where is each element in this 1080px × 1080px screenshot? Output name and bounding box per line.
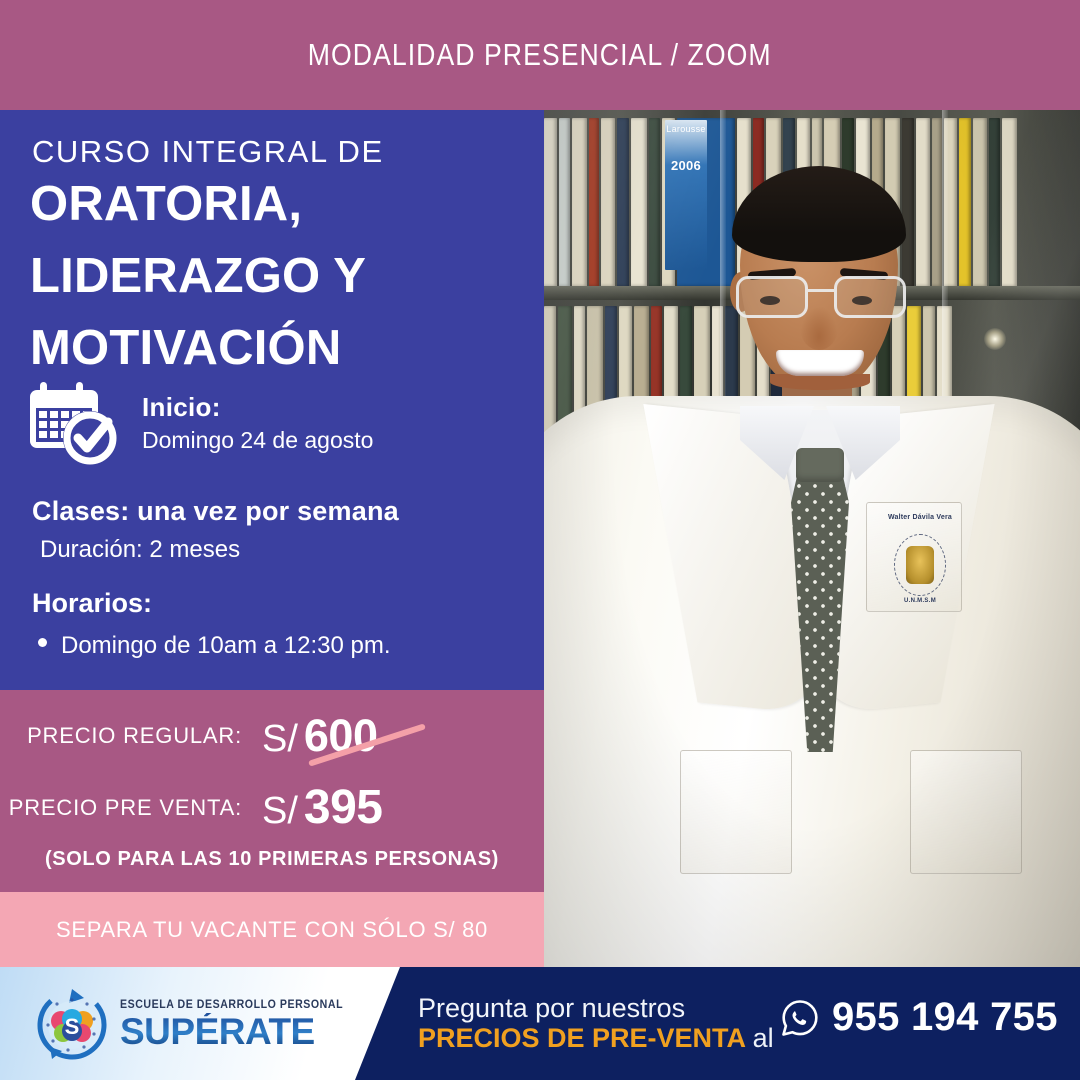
eyeglasses <box>732 276 912 320</box>
superate-circular-brain-logo-icon: S <box>36 989 108 1061</box>
brand-logo[interactable]: S ESCUELA DE DESARROLLO PERSONAL SUPÉRAT… <box>36 989 362 1061</box>
svg-text:S: S <box>65 1014 80 1039</box>
bullet-icon <box>38 638 47 647</box>
phone-number: 955 194 755 <box>832 995 1058 1040</box>
course-title: ORATORIA, LIDERAZGO Y MOTIVACIÓN <box>30 168 366 384</box>
pricing-panel: PRECIO REGULAR: S/ 600 PRECIO PRE VENTA:… <box>0 690 544 892</box>
start-value: Domingo 24 de agosto <box>142 427 373 454</box>
presale-price-row: PRECIO PRE VENTA: S/ 395 <box>0 780 544 835</box>
coat-badge-emblem <box>894 534 946 596</box>
cta-highlight: PRECIOS DE PRE-VENTA <box>418 1023 745 1053</box>
schedule-label: Horarios: <box>32 588 152 619</box>
modality-text: MODALIDAD PRESENCIAL / ZOOM <box>308 37 772 73</box>
footer: S ESCUELA DE DESARROLLO PERSONAL SUPÉRAT… <box>0 967 1080 1080</box>
schedule-item: Domingo de 10am a 12:30 pm. <box>38 632 391 660</box>
modality-band: MODALIDAD PRESENCIAL / ZOOM <box>0 0 1080 110</box>
schedule-item-text: Domingo de 10am a 12:30 pm. <box>61 632 391 660</box>
cta-suffix: al <box>753 1023 774 1053</box>
presale-amount: 395 <box>304 780 383 835</box>
flyer-canvas: MODALIDAD PRESENCIAL / ZOOM <box>0 0 1080 1080</box>
course-title-line: MOTIVACIÓN <box>30 312 366 384</box>
presale-price-amount: S/ 395 <box>262 780 383 835</box>
coat-badge-university: U.N.M.S.M <box>892 598 948 604</box>
whatsapp-contact[interactable]: 955 194 755 <box>780 995 1058 1040</box>
regular-price-row: PRECIO REGULAR: S/ 600 <box>0 710 544 762</box>
whatsapp-icon <box>780 998 820 1038</box>
coat-badge-name: Walter Dávila Vera <box>880 514 960 521</box>
regular-price-amount: S/ 600 <box>262 710 378 762</box>
start-label: Inicio: <box>142 392 373 423</box>
regular-currency: S/ <box>262 718 298 761</box>
frequency-text: Clases: una vez por semana <box>32 496 399 527</box>
course-title-line: ORATORIA, <box>30 168 366 240</box>
regular-price-label: PRECIO REGULAR: <box>0 723 262 749</box>
cta-line-1: Pregunta por nuestros <box>418 993 774 1023</box>
course-info-panel: CURSO INTEGRAL DE ORATORIA, LIDERAZGO Y … <box>0 110 544 690</box>
brand-name: SUPÉRATE <box>120 1013 362 1050</box>
start-date-row: Inicio: Domingo 24 de agosto <box>28 378 373 468</box>
cta-message: Pregunta por nuestros PRECIOS DE PRE-VEN… <box>418 993 774 1053</box>
deposit-note: SEPARA TU VACANTE CON SÓLO S/ 80 <box>56 917 488 943</box>
presale-currency: S/ <box>262 790 298 833</box>
calendar-check-icon <box>28 378 124 468</box>
course-kicker: CURSO INTEGRAL DE <box>32 134 384 170</box>
presale-price-label: PRECIO PRE VENTA: <box>0 795 262 821</box>
deposit-band: SEPARA TU VACANTE CON SÓLO S/ 80 <box>0 892 544 967</box>
limit-note: (SOLO PARA LAS 10 PRIMERAS PERSONAS) <box>0 848 544 871</box>
instructor-photo: Larousse 2006 Walter Dávila Vera <box>544 110 1080 967</box>
brand-subtitle: ESCUELA DE DESARROLLO PERSONAL <box>120 1000 343 1012</box>
instructor-figure: Walter Dávila Vera U.N.M.S.M <box>544 110 1080 967</box>
duration-text: Duración: 2 meses <box>40 536 240 564</box>
course-title-line: LIDERAZGO Y <box>30 240 366 312</box>
